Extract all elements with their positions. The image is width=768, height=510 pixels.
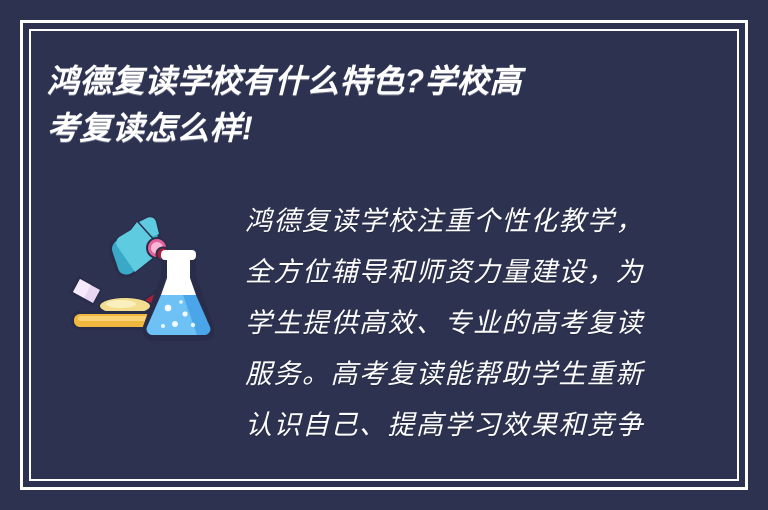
title-line-2: 考复读怎么样! [47, 105, 687, 152]
article-paragraph: 鸿德复读学校注重个性化教学，全方位辅导和师资力量建设，为学生提供高效、专业的高考… [245, 196, 665, 451]
science-illustration [63, 208, 223, 358]
article-body: 鸿德复读学校注重个性化教学，全方位辅导和师资力量建设，为学生提供高效、专业的高考… [47, 196, 721, 463]
article-card: 鸿德复读学校有什么特色?学校高 考复读怎么样! [0, 0, 768, 510]
flask-icon [145, 250, 211, 338]
page-title: 鸿德复读学校有什么特色?学校高 考复读怎么样! [47, 58, 687, 152]
title-line-1: 鸿德复读学校有什么特色?学校高 [47, 58, 687, 105]
